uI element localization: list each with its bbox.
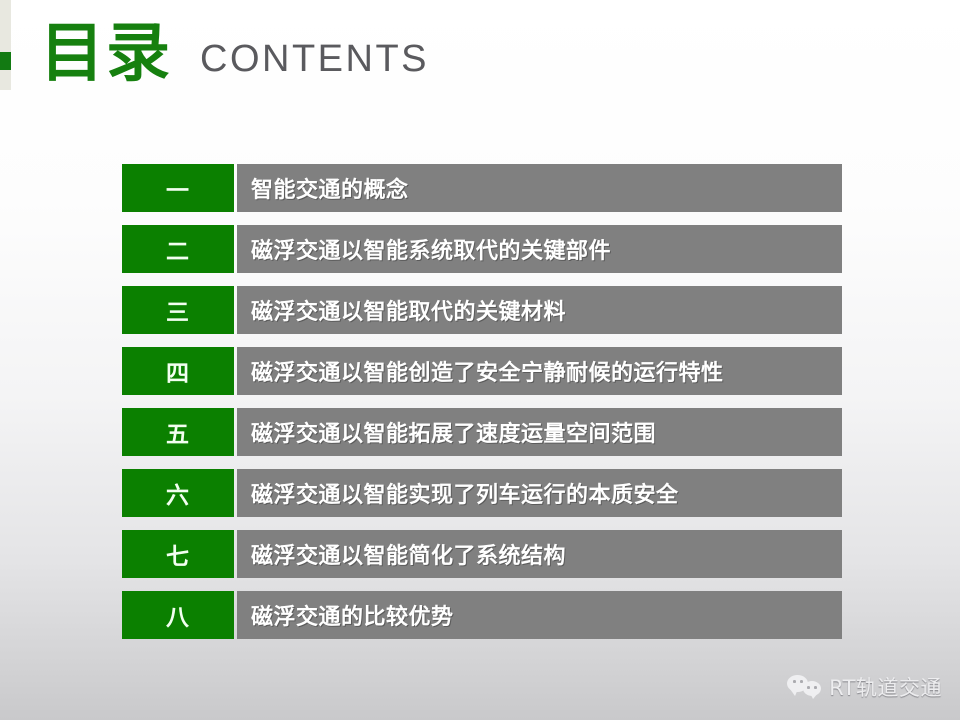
toc-row-label: 磁浮交通以智能取代的关键材料 bbox=[237, 286, 842, 334]
slide-header: 目录 CONTENTS bbox=[40, 22, 429, 86]
toc-row-number: 四 bbox=[122, 347, 234, 395]
toc-row[interactable]: 六磁浮交通以智能实现了列车运行的本质安全 bbox=[122, 469, 842, 517]
toc-row[interactable]: 七磁浮交通以智能简化了系统结构 bbox=[122, 530, 842, 578]
toc-row-label: 磁浮交通以智能实现了列车运行的本质安全 bbox=[237, 469, 842, 517]
toc-row[interactable]: 三磁浮交通以智能取代的关键材料 bbox=[122, 286, 842, 334]
toc-row[interactable]: 八磁浮交通的比较优势 bbox=[122, 591, 842, 639]
toc-row-number: 五 bbox=[122, 408, 234, 456]
watermark-label: RT轨道交通 bbox=[829, 672, 942, 702]
toc-row-number: 七 bbox=[122, 530, 234, 578]
watermark: RT轨道交通 bbox=[787, 672, 942, 702]
page-title-cn: 目录 bbox=[40, 22, 172, 86]
toc-row-number: 一 bbox=[122, 164, 234, 212]
toc-row-label: 磁浮交通以智能简化了系统结构 bbox=[237, 530, 842, 578]
toc-row-number: 八 bbox=[122, 591, 234, 639]
toc-row-number: 三 bbox=[122, 286, 234, 334]
toc-row-number: 六 bbox=[122, 469, 234, 517]
toc-row[interactable]: 五磁浮交通以智能拓展了速度运量空间范围 bbox=[122, 408, 842, 456]
slide-canvas: 目录 CONTENTS 一智能交通的概念二磁浮交通以智能系统取代的关键部件三磁浮… bbox=[0, 0, 960, 720]
toc-row-label: 智能交通的概念 bbox=[237, 164, 842, 212]
toc-row-label: 磁浮交通以智能系统取代的关键部件 bbox=[237, 225, 842, 273]
contents-list: 一智能交通的概念二磁浮交通以智能系统取代的关键部件三磁浮交通以智能取代的关键材料… bbox=[122, 164, 842, 639]
accent-square-icon bbox=[0, 52, 11, 70]
toc-row-label: 磁浮交通以智能创造了安全宁静耐候的运行特性 bbox=[237, 347, 842, 395]
accent-strip bbox=[0, 0, 11, 90]
toc-row[interactable]: 四磁浮交通以智能创造了安全宁静耐候的运行特性 bbox=[122, 347, 842, 395]
toc-row-number: 二 bbox=[122, 225, 234, 273]
page-title-en: CONTENTS bbox=[200, 40, 429, 78]
toc-row[interactable]: 一智能交通的概念 bbox=[122, 164, 842, 212]
toc-row-label: 磁浮交通的比较优势 bbox=[237, 591, 842, 639]
toc-row[interactable]: 二磁浮交通以智能系统取代的关键部件 bbox=[122, 225, 842, 273]
wechat-icon bbox=[787, 673, 821, 701]
toc-row-label: 磁浮交通以智能拓展了速度运量空间范围 bbox=[237, 408, 842, 456]
